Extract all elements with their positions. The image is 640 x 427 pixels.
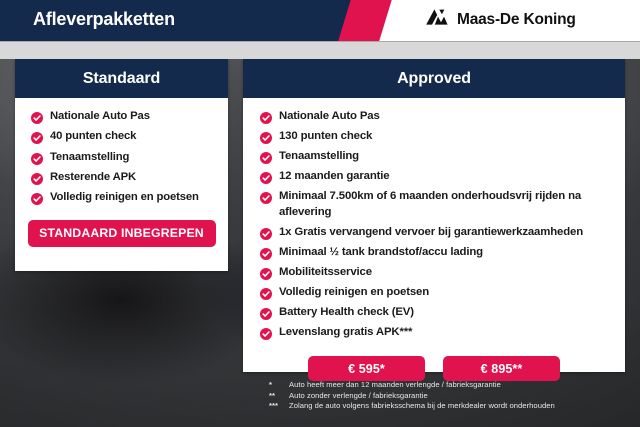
check-circle-icon [260, 327, 272, 339]
list-item: 40 punten check [15, 129, 228, 144]
brand-name: Maas-De Koning [457, 11, 576, 29]
package-card-approved: Approved Nationale Auto Pas 130 punten c… [243, 59, 625, 372]
feature-label: Resterende APK [50, 170, 136, 185]
check-circle-icon [260, 227, 272, 239]
price-button-row: € 595* € 895** [243, 356, 625, 381]
footnote-row: * Auto heeft meer dan 12 maanden verleng… [269, 380, 555, 389]
card-body-standaard: Nationale Auto Pas 40 punten check Tenaa… [15, 98, 228, 247]
price-button-595[interactable]: € 595* [308, 356, 425, 381]
feature-label: 12 maanden garantie [279, 169, 389, 185]
list-item: Minimaal 7.500km of 6 maanden onderhouds… [243, 189, 625, 220]
check-circle-icon [260, 151, 272, 163]
feature-list-standaard: Nationale Auto Pas 40 punten check Tenaa… [15, 109, 228, 206]
list-item: Battery Health check (EV) [243, 305, 625, 321]
feature-label: Minimaal 7.500km of 6 maanden onderhouds… [279, 189, 615, 220]
check-circle-icon [31, 172, 43, 184]
footnote-text: Auto heeft meer dan 12 maanden verlengde… [289, 380, 501, 389]
feature-label: 1x Gratis vervangend vervoer bij garanti… [279, 225, 583, 241]
check-circle-icon [260, 131, 272, 143]
footnote-row: *** Zolang de auto volgens fabrieksschem… [269, 401, 555, 410]
check-circle-icon [31, 131, 43, 143]
page-title: Afleverpakketten [33, 9, 175, 30]
maas-de-koning-m-logo-icon [425, 8, 449, 31]
check-circle-icon [260, 287, 272, 299]
standaard-inbegrepen-button[interactable]: STANDAARD INBEGREPEN [28, 220, 216, 247]
feature-label: 130 punten check [279, 129, 372, 145]
feature-label: Tenaamstelling [50, 150, 129, 165]
card-title-standaard: Standaard [83, 70, 160, 88]
footnote-mark: * [269, 380, 289, 389]
package-card-standaard: Standaard Nationale Auto Pas 40 punten c… [15, 59, 228, 271]
check-circle-icon [31, 111, 43, 123]
check-circle-icon [31, 152, 43, 164]
list-item: Tenaamstelling [243, 149, 625, 165]
feature-label: 40 punten check [50, 129, 136, 144]
feature-label: Minimaal ½ tank brandstof/accu lading [279, 245, 483, 261]
card-body-approved: Nationale Auto Pas 130 punten check Tena… [243, 98, 625, 381]
list-item: 1x Gratis vervangend vervoer bij garanti… [243, 225, 625, 241]
check-circle-icon [260, 267, 272, 279]
list-item: Mobiliteitsservice [243, 265, 625, 281]
card-title-approved: Approved [397, 70, 471, 88]
delivery-packages-page: Afleverpakketten Maas-De Koning Standaar… [0, 0, 640, 427]
footnote-mark: ** [269, 391, 289, 400]
footnote-text: Zolang de auto volgens fabrieksschema bi… [289, 401, 555, 410]
feature-label: Mobiliteitsservice [279, 265, 372, 281]
check-circle-icon [260, 191, 272, 203]
list-item: Minimaal ½ tank brandstof/accu lading [243, 245, 625, 261]
footnotes-block: * Auto heeft meer dan 12 maanden verleng… [269, 380, 555, 412]
feature-label: Battery Health check (EV) [279, 305, 414, 321]
card-header-approved: Approved [243, 59, 625, 98]
check-circle-icon [260, 111, 272, 123]
feature-label: Levenslang gratis APK*** [279, 325, 412, 341]
list-item: Tenaamstelling [15, 150, 228, 165]
list-item: Resterende APK [15, 170, 228, 185]
feature-label: Volledig reinigen en poetsen [279, 285, 429, 301]
list-item: Volledig reinigen en poetsen [15, 190, 228, 205]
footnote-text: Auto zonder verlengde / fabrieksgarantie [289, 391, 428, 400]
list-item: Nationale Auto Pas [243, 109, 625, 125]
feature-list-approved: Nationale Auto Pas 130 punten check Tena… [243, 109, 625, 340]
check-circle-icon [260, 171, 272, 183]
feature-label: Tenaamstelling [279, 149, 359, 165]
list-item: 12 maanden garantie [243, 169, 625, 185]
footnote-mark: *** [269, 401, 289, 410]
list-item: Levenslang gratis APK*** [243, 325, 625, 341]
footnote-row: ** Auto zonder verlengde / fabrieksgaran… [269, 391, 555, 400]
price-button-895[interactable]: € 895** [443, 356, 560, 381]
header-subbar [0, 41, 640, 59]
brand-logo: Maas-De Koning [425, 8, 576, 31]
check-circle-icon [260, 247, 272, 259]
feature-label: Nationale Auto Pas [50, 109, 150, 124]
feature-label: Volledig reinigen en poetsen [50, 190, 199, 205]
check-circle-icon [260, 307, 272, 319]
check-circle-icon [31, 192, 43, 204]
feature-label: Nationale Auto Pas [279, 109, 380, 125]
list-item: Volledig reinigen en poetsen [243, 285, 625, 301]
page-header: Afleverpakketten Maas-De Koning [0, 0, 640, 41]
card-header-standaard: Standaard [15, 59, 228, 98]
header-divider [0, 41, 640, 42]
list-item: Nationale Auto Pas [15, 109, 228, 124]
list-item: 130 punten check [243, 129, 625, 145]
